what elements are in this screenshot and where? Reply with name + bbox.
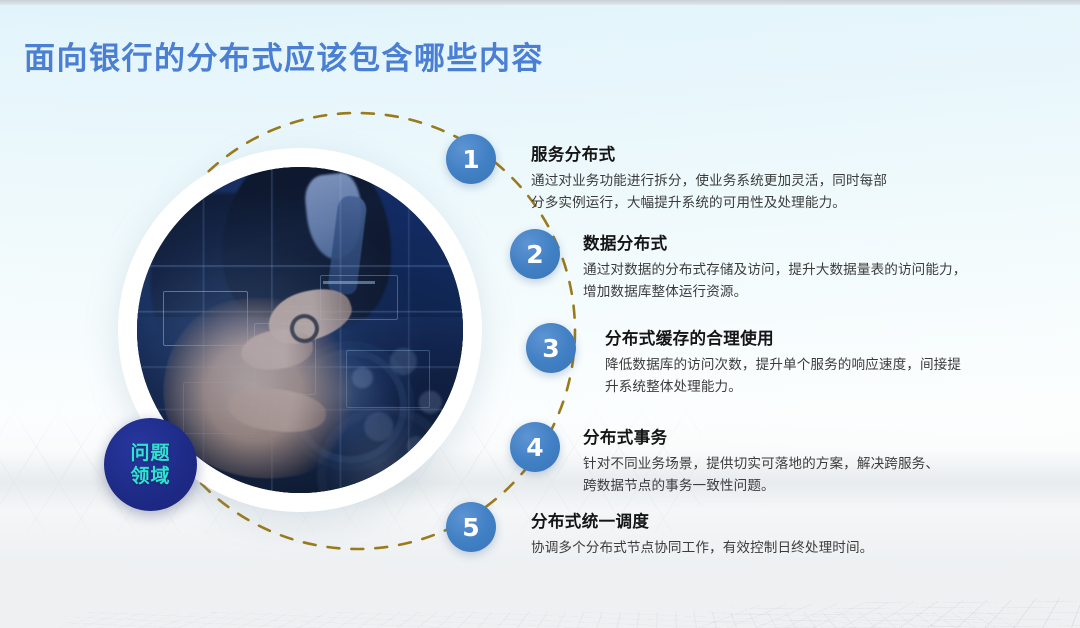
item-body-3: 降低数据库的访问次数，提升单个服务的响应速度，间接提 升系统整体处理能力。 — [605, 354, 961, 398]
number-badge-2[interactable]: 2 — [510, 229, 560, 279]
slide-root: 面向银行的分布式应该包含哪些内容 问题 领域 1 — [0, 0, 1080, 628]
page-title: 面向银行的分布式应该包含哪些内容 — [24, 33, 544, 78]
list-item-2[interactable]: 数据分布式 通过对数据的分布式存储及访问，提升大数据量表的访问能力， 增加数据库… — [583, 230, 966, 303]
item-heading-4: 分布式事务 — [583, 424, 939, 448]
domain-badge-line1: 问题 — [130, 442, 170, 464]
list-item-3[interactable]: 分布式缓存的合理使用 降低数据库的访问次数，提升单个服务的响应速度，间接提 升系… — [605, 325, 961, 398]
item-heading-1: 服务分布式 — [531, 141, 887, 165]
number-badge-4[interactable]: 4 — [510, 422, 560, 472]
domain-badge-line2: 领域 — [130, 465, 170, 487]
list-item-1[interactable]: 服务分布式 通过对业务功能进行拆分，使业务系统更加灵活，同时每部 分多实例运行，… — [531, 141, 887, 214]
item-body-1: 通过对业务功能进行拆分，使业务系统更加灵活，同时每部 分多实例运行，大幅提升系统… — [531, 170, 887, 214]
item-body-2: 通过对数据的分布式存储及访问，提升大数据量表的访问能力， 增加数据库整体运行资源… — [583, 259, 966, 303]
list-item-4[interactable]: 分布式事务 针对不同业务场景，提供切实可落地的方案，解决跨服务、 跨数据节点的事… — [583, 424, 939, 497]
top-edge-strip — [0, 0, 1080, 5]
item-heading-3: 分布式缓存的合理使用 — [605, 325, 961, 349]
list-item-5[interactable]: 分布式统一调度 协调多个分布式节点协同工作，有效控制日终处理时间。 — [531, 508, 873, 559]
number-badge-3[interactable]: 3 — [526, 323, 576, 373]
domain-badge[interactable]: 问题 领域 — [104, 418, 197, 511]
item-heading-5: 分布式统一调度 — [531, 508, 873, 532]
item-body-4: 针对不同业务场景，提供切实可落地的方案，解决跨服务、 跨数据节点的事务一致性问题… — [583, 453, 939, 497]
number-badge-5[interactable]: 5 — [446, 502, 496, 552]
item-heading-2: 数据分布式 — [583, 230, 966, 254]
number-badge-1[interactable]: 1 — [446, 134, 496, 184]
item-body-5: 协调多个分布式节点协同工作，有效控制日终处理时间。 — [531, 537, 873, 559]
